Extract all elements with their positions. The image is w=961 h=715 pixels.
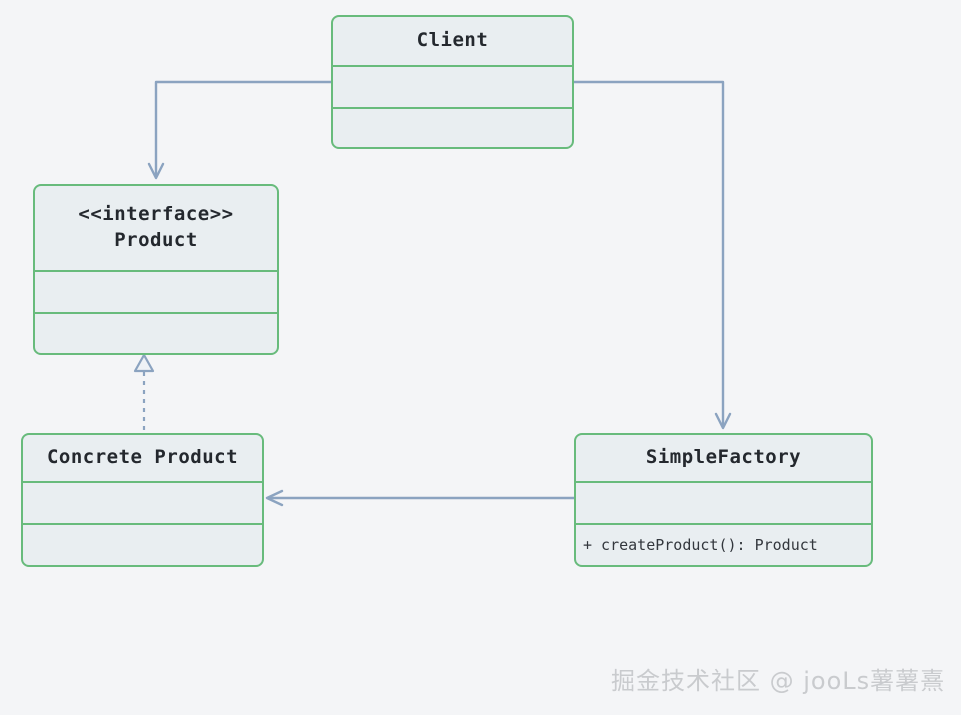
connector-simplefactory-to-concrete-product	[267, 491, 574, 505]
class-simple-factory-title-compartment: SimpleFactory	[576, 435, 871, 481]
class-simple-factory-attributes-compartment	[576, 481, 871, 523]
connector-client-to-simplefactory	[574, 82, 730, 428]
uml-class-simple-factory[interactable]: SimpleFactory + createProduct(): Product	[574, 433, 873, 567]
class-client-name: Client	[417, 28, 489, 54]
class-concrete-product-name: Concrete Product	[47, 445, 238, 471]
connector-concrete-product-realizes-product	[135, 355, 153, 430]
class-product-methods-compartment	[35, 312, 277, 353]
class-product-stereotype: <<interface>>	[78, 202, 233, 228]
class-client-title-compartment: Client	[333, 17, 572, 65]
watermark-text: 掘金技术社区 @ jooLs薯薯熹	[611, 661, 945, 696]
class-concrete-product-attributes-compartment	[23, 481, 262, 523]
class-simple-factory-name: SimpleFactory	[646, 445, 801, 471]
class-product-name: Product	[114, 228, 198, 254]
class-product-attributes-compartment	[35, 270, 277, 312]
class-simple-factory-method-create-product: + createProduct(): Product	[576, 536, 818, 554]
class-simple-factory-methods-compartment: + createProduct(): Product	[576, 523, 871, 565]
class-product-title-compartment: <<interface>> Product	[35, 186, 277, 270]
uml-class-client[interactable]: Client	[331, 15, 574, 149]
uml-class-concrete-product[interactable]: Concrete Product	[21, 433, 264, 567]
class-concrete-product-title-compartment: Concrete Product	[23, 435, 262, 481]
connector-client-to-product	[149, 82, 331, 178]
class-client-attributes-compartment	[333, 65, 572, 107]
class-concrete-product-methods-compartment	[23, 523, 262, 565]
uml-class-product[interactable]: <<interface>> Product	[33, 184, 279, 355]
class-client-methods-compartment	[333, 107, 572, 147]
uml-diagram-canvas: Client <<interface>> Product Concrete Pr…	[0, 0, 961, 715]
